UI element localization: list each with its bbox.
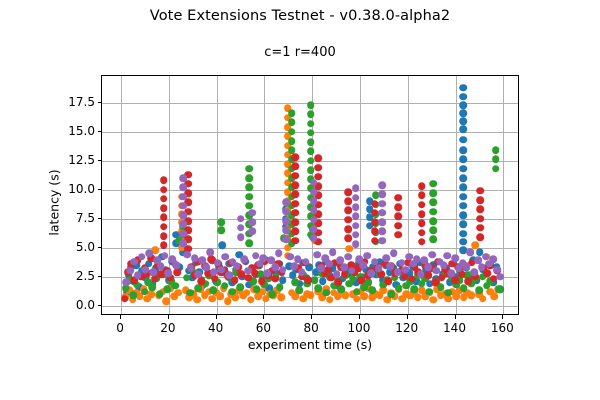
scatter-point: [410, 286, 418, 294]
scatter-point: [194, 284, 202, 292]
scatter-point: [271, 275, 279, 283]
scatter-point: [314, 164, 322, 172]
scatter-point: [310, 225, 318, 233]
scatter-point: [245, 174, 253, 182]
scatter-point: [248, 218, 256, 226]
scatter-point: [160, 177, 168, 185]
scatter-point: [245, 184, 253, 192]
scatter-point: [367, 269, 375, 277]
scatter-point: [459, 136, 467, 144]
scatter-point: [174, 289, 182, 297]
scatter-point: [291, 228, 299, 236]
x-axis-tick-label: 40: [208, 321, 223, 335]
scatter-point: [429, 217, 437, 225]
scatter-point: [260, 254, 268, 262]
scatter-point: [418, 182, 426, 190]
scatter-point: [277, 294, 285, 302]
scatter-point: [394, 222, 402, 230]
scatter-point: [179, 202, 187, 210]
scatter-point: [147, 290, 155, 298]
scatter-point: [291, 209, 299, 217]
scatter-point: [160, 223, 168, 231]
x-axis-tick: [502, 315, 503, 319]
scatter-point: [314, 251, 322, 259]
scatter-point: [402, 266, 410, 274]
x-axis-tick: [216, 315, 217, 319]
scatter-point: [165, 269, 173, 277]
scatter-point: [187, 289, 195, 297]
y-axis-tick: [98, 247, 102, 248]
scatter-point: [310, 235, 318, 243]
scatter-point: [349, 275, 357, 283]
scatter-point: [221, 282, 229, 290]
scatter-point: [134, 272, 142, 280]
scatter-point: [459, 202, 467, 210]
scatter-point: [253, 286, 261, 294]
scatter-point: [418, 201, 426, 209]
scatter-point: [338, 286, 346, 294]
x-axis-tick: [311, 315, 312, 319]
y-axis-tick: [98, 189, 102, 190]
scatter-point: [348, 267, 356, 275]
scatter-point: [479, 295, 487, 303]
scatter-point: [477, 215, 485, 223]
scatter-point: [368, 287, 376, 295]
scatter-point: [459, 117, 467, 125]
scatter-point: [478, 264, 486, 272]
scatter-point: [210, 287, 218, 295]
plot-area: [101, 75, 519, 315]
scatter-point: [444, 252, 452, 260]
scatter-point: [467, 248, 475, 256]
scatter-point: [172, 261, 180, 269]
scatter-point: [237, 224, 245, 232]
scatter-point: [459, 109, 467, 117]
scatter-point: [307, 101, 315, 109]
scatter-point: [344, 207, 352, 215]
scatter-points-layer: [102, 76, 518, 314]
scatter-point: [315, 284, 323, 292]
x-axis-tick-label: 100: [348, 321, 371, 335]
scatter-point: [291, 181, 299, 189]
scatter-point: [470, 268, 478, 276]
scatter-point: [283, 208, 291, 216]
x-axis-label: experiment time (s): [101, 337, 519, 352]
scatter-point: [379, 218, 387, 226]
scatter-point: [344, 235, 352, 243]
scatter-point: [429, 236, 437, 244]
scatter-point: [379, 209, 387, 217]
scatter-point: [459, 126, 467, 134]
scatter-point: [371, 209, 379, 217]
scatter-point: [394, 231, 402, 239]
scatter-point: [490, 292, 498, 300]
scatter-point: [371, 237, 379, 245]
scatter-point: [371, 218, 379, 226]
scatter-point: [459, 174, 467, 182]
scatter-point: [160, 195, 168, 203]
scatter-point: [344, 216, 352, 224]
scatter-point: [379, 181, 387, 189]
scatter-point: [497, 273, 505, 281]
scatter-point: [307, 120, 315, 128]
scatter-point: [248, 228, 256, 236]
scatter-point: [275, 250, 283, 258]
scatter-point: [291, 172, 299, 180]
scatter-point: [179, 239, 187, 247]
scatter-point: [123, 279, 131, 287]
scatter-point: [375, 265, 383, 273]
scatter-point: [291, 237, 299, 245]
scatter-point: [440, 261, 448, 269]
scatter-point: [307, 110, 315, 118]
scatter-point: [210, 268, 218, 276]
scatter-point: [492, 146, 500, 154]
scatter-point: [418, 192, 426, 200]
scatter-point: [224, 297, 232, 305]
scatter-point: [379, 228, 387, 236]
scatter-point: [408, 275, 416, 283]
scatter-point: [329, 248, 337, 256]
scatter-point: [364, 279, 372, 287]
x-axis-tick: [168, 315, 169, 319]
scatter-point: [291, 163, 299, 171]
scatter-point: [352, 231, 360, 239]
scatter-point: [363, 252, 371, 260]
x-axis-tick-label: 80: [304, 321, 319, 335]
scatter-point: [202, 264, 210, 272]
scatter-point: [268, 290, 276, 298]
scatter-point: [276, 283, 284, 291]
scatter-point: [283, 226, 291, 234]
scatter-point: [322, 289, 330, 297]
scatter-point: [344, 197, 352, 205]
scatter-point: [163, 297, 171, 305]
x-axis-tick-label: 60: [256, 321, 271, 335]
scatter-point: [489, 255, 497, 263]
page-title: Vote Extensions Testnet - v0.38.0-alpha2: [0, 8, 600, 24]
scatter-point: [160, 241, 168, 249]
scatter-point: [477, 187, 485, 195]
scatter-point: [206, 248, 214, 256]
scatter-point: [463, 262, 471, 270]
scatter-point: [418, 238, 426, 246]
scatter-point: [247, 296, 255, 304]
scatter-point: [429, 296, 437, 304]
scatter-point: [417, 270, 425, 278]
scatter-point: [429, 226, 437, 234]
scatter-point: [451, 276, 459, 284]
scatter-point: [179, 211, 187, 219]
scatter-point: [429, 199, 437, 207]
x-axis-tick-label: 160: [491, 321, 514, 335]
x-axis-tick: [359, 315, 360, 319]
scatter-point: [130, 258, 138, 266]
scatter-point: [360, 261, 368, 269]
scatter-point: [445, 289, 453, 297]
scatter-point: [229, 288, 237, 296]
scatter-point: [379, 237, 387, 245]
scatter-point: [310, 179, 318, 187]
scatter-point: [424, 272, 432, 280]
scatter-point: [195, 270, 203, 278]
scatter-point: [164, 286, 172, 294]
scatter-point: [219, 241, 227, 249]
scatter-point: [298, 268, 306, 276]
scatter-point: [371, 200, 379, 208]
scatter-point: [271, 264, 279, 272]
scatter-point: [236, 283, 244, 291]
scatter-point: [279, 266, 287, 274]
scatter-point: [429, 208, 437, 216]
scatter-point: [218, 266, 226, 274]
scatter-point: [237, 215, 245, 223]
scatter-point: [352, 240, 360, 248]
scatter-point: [126, 267, 134, 275]
scatter-point: [334, 279, 342, 287]
scatter-point: [241, 255, 249, 263]
scatter-point: [344, 253, 352, 261]
x-axis-tick-label: 120: [395, 321, 418, 335]
scatter-point: [333, 270, 341, 278]
scatter-point: [263, 269, 271, 277]
scatter-point: [291, 200, 299, 208]
scatter-point: [459, 238, 467, 246]
scatter-point: [156, 290, 164, 298]
scatter-point: [395, 284, 403, 292]
scatter-point: [179, 230, 187, 238]
scatter-point: [161, 252, 169, 260]
scatter-point: [477, 233, 485, 241]
scatter-point: [371, 228, 379, 236]
scatter-point: [390, 250, 398, 258]
scatter-point: [160, 186, 168, 194]
scatter-point: [379, 190, 387, 198]
scatter-point: [148, 283, 156, 291]
scatter-point: [492, 165, 500, 173]
scatter-point: [459, 211, 467, 219]
y-axis-tick: [98, 131, 102, 132]
scatter-point: [459, 184, 467, 192]
scatter-point: [217, 218, 225, 226]
scatter-point: [294, 255, 302, 263]
scatter-point: [307, 138, 315, 146]
scatter-point: [414, 294, 422, 302]
scatter-point: [216, 292, 224, 300]
scatter-point: [160, 204, 168, 212]
scatter-point: [258, 277, 266, 285]
x-axis-tick: [263, 315, 264, 319]
scatter-point: [447, 269, 455, 277]
scatter-point: [211, 275, 219, 283]
scatter-point: [252, 252, 260, 260]
scatter-point: [353, 295, 361, 303]
scatter-point: [394, 203, 402, 211]
scatter-point: [187, 265, 195, 273]
scatter-point: [129, 291, 137, 299]
scatter-point: [384, 277, 392, 285]
scatter-point: [179, 184, 187, 192]
scatter-point: [460, 284, 468, 292]
chart-subtitle: c=1 r=400: [0, 45, 600, 60]
scatter-point: [283, 199, 291, 207]
scatter-point: [344, 188, 352, 196]
scatter-point: [432, 267, 440, 275]
scatter-point: [157, 262, 165, 270]
scatter-point: [394, 194, 402, 202]
scatter-point: [459, 156, 467, 164]
scatter-point: [314, 155, 322, 163]
scatter-point: [291, 190, 299, 198]
x-axis-tick: [120, 315, 121, 319]
scatter-point: [425, 288, 433, 296]
y-axis-tick: [98, 102, 102, 103]
scatter-point: [352, 212, 360, 220]
matplotlib-figure: Vote Extensions Testnet - v0.38.0-alpha2…: [0, 0, 600, 400]
scatter-point: [477, 224, 485, 232]
scatter-point: [429, 180, 437, 188]
y-axis-tick: [98, 305, 102, 306]
scatter-point: [459, 221, 467, 229]
scatter-point: [310, 216, 318, 224]
scatter-point: [290, 262, 298, 270]
scatter-point: [310, 197, 318, 205]
scatter-point: [387, 290, 395, 298]
scatter-point: [237, 233, 245, 241]
scatter-point: [302, 258, 310, 266]
scatter-point: [142, 266, 150, 274]
scatter-point: [344, 225, 352, 233]
scatter-point: [424, 264, 432, 272]
y-axis-tick: [98, 160, 102, 161]
scatter-point: [198, 277, 206, 285]
scatter-point: [160, 232, 168, 240]
scatter-point: [428, 251, 436, 259]
scatter-point: [305, 276, 313, 284]
scatter-point: [233, 262, 241, 270]
scatter-point: [459, 230, 467, 238]
scatter-point: [288, 137, 296, 145]
scatter-point: [225, 272, 233, 280]
scatter-point: [418, 229, 426, 237]
scatter-point: [245, 165, 253, 173]
scatter-point: [288, 109, 296, 117]
scatter-point: [353, 288, 361, 296]
y-axis-tick: [98, 218, 102, 219]
scatter-point: [386, 262, 394, 270]
scatter-point: [459, 84, 467, 92]
scatter-point: [307, 291, 315, 299]
scatter-point: [251, 269, 259, 277]
scatter-point: [141, 288, 149, 296]
scatter-point: [291, 218, 299, 226]
scatter-point: [179, 193, 187, 201]
scatter-point: [121, 295, 129, 303]
x-axis-tick: [455, 315, 456, 319]
scatter-point: [418, 219, 426, 227]
scatter-point: [283, 236, 291, 244]
scatter-point: [326, 296, 334, 304]
scatter-point: [340, 264, 348, 272]
scatter-point: [492, 156, 500, 164]
scatter-point: [459, 93, 467, 101]
scatter-point: [244, 267, 252, 275]
scatter-point: [248, 209, 256, 217]
scatter-point: [288, 128, 296, 136]
scatter-point: [317, 265, 325, 273]
scatter-point: [459, 165, 467, 173]
x-axis-tick-label: 0: [116, 321, 124, 335]
scatter-point: [160, 214, 168, 222]
scatter-point: [149, 268, 157, 276]
scatter-point: [352, 203, 360, 211]
scatter-point: [496, 286, 504, 294]
scatter-point: [283, 217, 291, 225]
scatter-point: [286, 253, 294, 261]
scatter-point: [459, 101, 467, 109]
scatter-point: [173, 268, 181, 276]
scatter-point: [429, 189, 437, 197]
scatter-point: [413, 255, 421, 263]
scatter-point: [459, 146, 467, 154]
scatter-point: [382, 254, 390, 262]
scatter-point: [179, 221, 187, 229]
y-axis-tick: [98, 276, 102, 277]
scatter-point: [394, 212, 402, 220]
scatter-point: [145, 250, 153, 258]
scatter-point: [295, 287, 303, 295]
scatter-point: [217, 226, 225, 234]
scatter-point: [310, 188, 318, 196]
scatter-point: [183, 251, 191, 259]
x-axis-tick-label: 20: [160, 321, 175, 335]
scatter-point: [179, 174, 187, 182]
x-axis-tick-label: 140: [443, 321, 466, 335]
y-axis-label: latency (s): [47, 103, 62, 303]
scatter-point: [310, 207, 318, 215]
scatter-point: [291, 153, 299, 161]
scatter-point: [418, 210, 426, 218]
scatter-point: [475, 287, 483, 295]
scatter-point: [221, 253, 229, 261]
scatter-point: [352, 194, 360, 202]
scatter-point: [138, 253, 146, 261]
x-axis-tick: [407, 315, 408, 319]
scatter-point: [477, 196, 485, 204]
scatter-point: [394, 268, 402, 276]
scatter-point: [307, 148, 315, 156]
scatter-point: [183, 274, 191, 282]
scatter-point: [245, 193, 253, 201]
scatter-point: [477, 206, 485, 214]
scatter-point: [245, 239, 253, 247]
scatter-point: [325, 260, 333, 268]
scatter-point: [360, 292, 368, 300]
scatter-point: [451, 254, 459, 262]
scatter-point: [307, 129, 315, 137]
scatter-point: [379, 200, 387, 208]
scatter-point: [467, 291, 475, 299]
scatter-point: [171, 282, 179, 290]
scatter-point: [288, 119, 296, 127]
scatter-point: [459, 193, 467, 201]
scatter-point: [191, 254, 199, 262]
scatter-point: [193, 296, 201, 304]
scatter-point: [352, 222, 360, 230]
scatter-point: [352, 185, 360, 193]
